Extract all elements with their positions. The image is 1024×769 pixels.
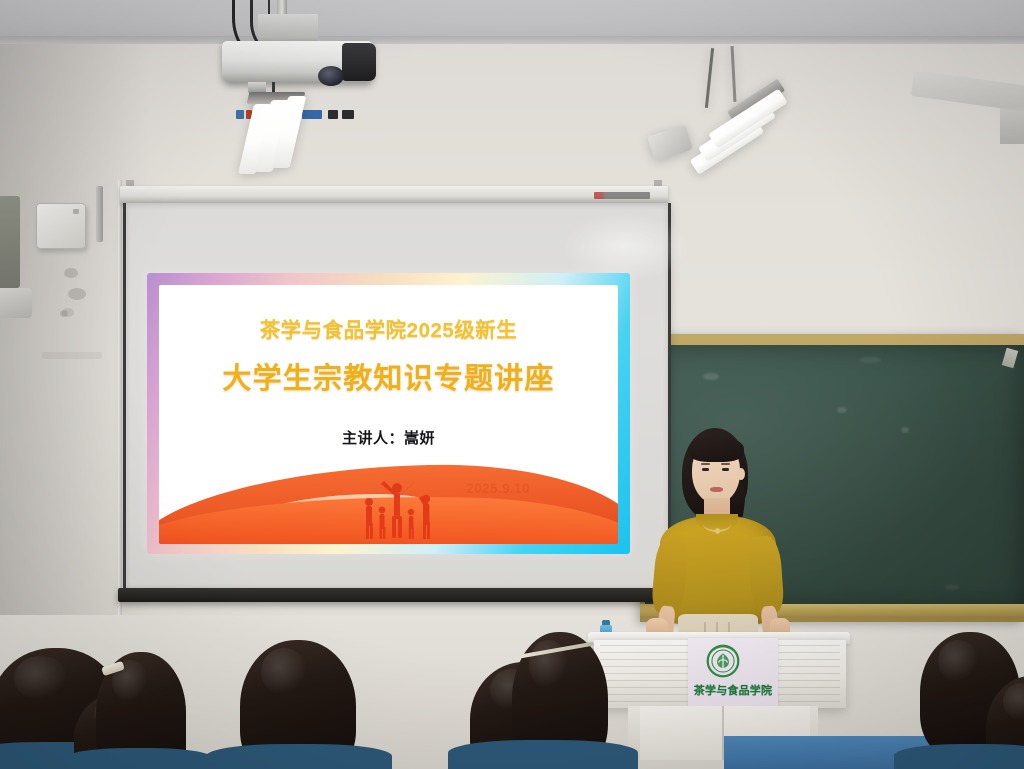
chalk-smudge bbox=[901, 427, 909, 433]
projector-lens bbox=[318, 66, 344, 86]
presenter-mouth bbox=[710, 487, 723, 492]
presenter-ear bbox=[737, 468, 745, 480]
projector-lens-housing bbox=[342, 43, 376, 81]
audience-shoulders bbox=[894, 744, 1024, 769]
people-silhouette-graphic bbox=[345, 476, 449, 540]
presenter-eye bbox=[722, 468, 729, 471]
projector-ceiling-mount bbox=[258, 14, 318, 42]
audience-shoulders bbox=[64, 748, 214, 769]
projected-slide: 茶学与食品学院2025级新生 大学生宗教知识专题讲座 主讲人：嵩妍 2025.9… bbox=[147, 273, 630, 554]
audience-shoulders bbox=[448, 740, 638, 769]
hair-sheen bbox=[261, 648, 307, 695]
electrical-junction-box bbox=[36, 203, 86, 249]
presenter-eyebrow bbox=[721, 463, 730, 465]
slide-main-title: 大学生宗教知识专题讲座 bbox=[159, 355, 618, 397]
college-emblem-icon bbox=[706, 644, 740, 678]
projector-port-panel bbox=[236, 53, 358, 69]
lectern-ribbed-panel bbox=[600, 645, 688, 703]
chalk-smudge bbox=[703, 373, 719, 380]
necklace-pendant bbox=[715, 528, 720, 534]
presenter-eyebrow bbox=[701, 463, 710, 465]
chalk-smudge bbox=[945, 585, 959, 590]
chalk-smudge bbox=[837, 407, 847, 413]
lectern-banner: 茶学与食品学院 bbox=[688, 638, 778, 710]
ceiling-light-fixture-right bbox=[680, 68, 800, 168]
ceiling bbox=[0, 0, 1024, 40]
projection-screen-weight-bar bbox=[118, 588, 670, 602]
slide-content-area: 茶学与食品学院2025级新生 大学生宗教知识专题讲座 主讲人：嵩妍 2025.9… bbox=[159, 285, 618, 544]
presenter-person bbox=[652, 428, 784, 658]
projector-port bbox=[236, 110, 244, 119]
presenter-hair-fringe bbox=[688, 436, 744, 462]
hair-sheen bbox=[14, 656, 67, 700]
hair-sheen bbox=[938, 640, 978, 683]
projection-screen-case bbox=[120, 186, 668, 204]
wall-scuff bbox=[68, 288, 86, 300]
lectern-banner-text: 茶学与食品学院 bbox=[688, 682, 778, 698]
slide-subtitle-line: 茶学与食品学院2025级新生 bbox=[159, 313, 618, 343]
wall-scuff bbox=[62, 308, 74, 317]
brand-logo bbox=[594, 192, 650, 199]
slide-presenter-line: 主讲人：嵩妍 bbox=[159, 427, 618, 448]
wall-conduit-pipe bbox=[96, 186, 103, 242]
audience-shoulders bbox=[206, 744, 392, 769]
wall-speaker-panel bbox=[0, 196, 20, 288]
presenter-eye bbox=[702, 468, 709, 471]
wall-line-mark bbox=[42, 352, 102, 359]
chalk-smudge bbox=[859, 357, 881, 363]
ceiling-fixture-edge bbox=[1000, 108, 1024, 144]
wall-seam bbox=[118, 180, 122, 620]
junction-box-screw bbox=[73, 209, 79, 214]
wall-scuff bbox=[64, 268, 78, 278]
ceiling-light-fixture-left bbox=[246, 92, 356, 178]
wall-fixture-lower bbox=[0, 288, 32, 318]
classroom-lecture-photo: 茶学与食品学院2025级新生 大学生宗教知识专题讲座 主讲人：嵩妍 2025.9… bbox=[0, 0, 1024, 769]
